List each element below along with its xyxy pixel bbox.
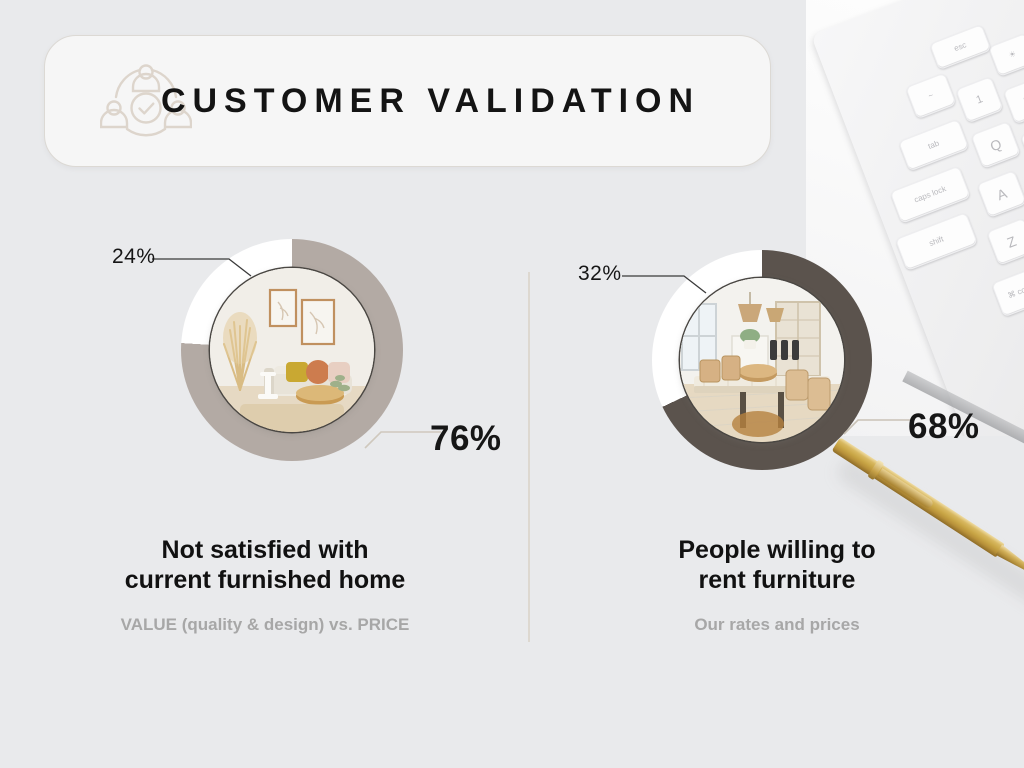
donut-left-center-image <box>210 268 374 432</box>
key-1: 1 <box>955 76 1003 123</box>
key-2: 2 <box>1003 77 1024 124</box>
donut-left-caption-line2: current furnished home <box>0 566 530 596</box>
slide-canvas: esc ~ 1 2 ☀ ☀ tab Q W caps lock A S D sh… <box>0 0 1024 768</box>
key-command: ⌘ command <box>991 259 1024 317</box>
donut-right-center-image <box>680 278 844 442</box>
key-z: Z <box>986 218 1024 266</box>
donut-right-caption-sub: Our rates and prices <box>530 615 1024 635</box>
leader-line-left-24 <box>150 248 280 280</box>
donut-left-label-big: 76% <box>430 419 502 459</box>
donut-right-label-big: 68% <box>908 407 980 447</box>
donut-right-caption-line2: rent furniture <box>530 566 1024 596</box>
leader-line-right-68 <box>842 412 914 440</box>
title-banner: CUSTOMER VALIDATION <box>44 35 771 167</box>
key-tilde: ~ <box>905 73 956 120</box>
page-title: CUSTOMER VALIDATION <box>45 82 770 121</box>
donut-left-caption: Not satisfied with current furnished hom… <box>0 536 530 635</box>
key-w: W <box>1020 121 1024 169</box>
donut-left-caption-sub: VALUE (quality & design) vs. PRICE <box>0 615 530 635</box>
key-esc: esc <box>929 24 991 70</box>
donut-right-label-small: 32% <box>578 262 622 286</box>
key-q: Q <box>971 121 1021 169</box>
key-tab: tab <box>898 119 969 172</box>
donut-left-label-small: 24% <box>112 245 156 269</box>
donut-right-caption-line1: People willing to <box>530 536 1024 566</box>
key-brightness-1: ☀ <box>988 33 1024 77</box>
key-a: A <box>977 170 1024 218</box>
donut-right-caption: People willing to rent furniture Our rat… <box>530 536 1024 635</box>
donut-left-caption-line1: Not satisfied with <box>0 536 530 566</box>
leader-line-right-32 <box>620 266 730 296</box>
